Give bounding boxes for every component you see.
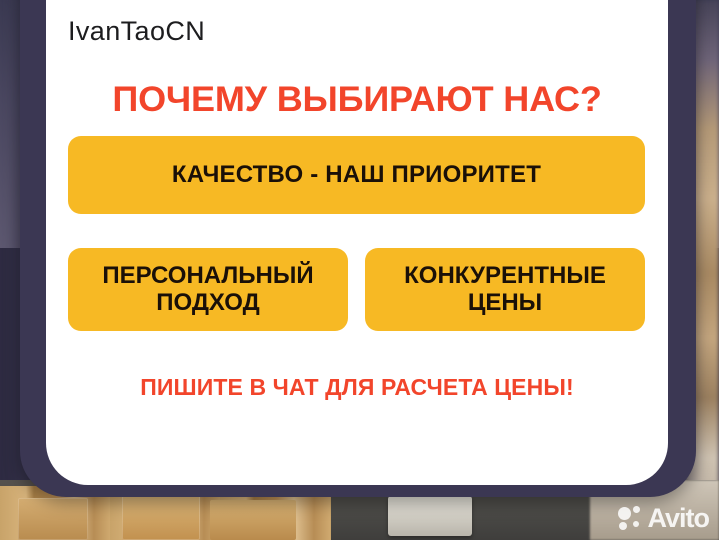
cta-text: ПИШИТЕ В ЧАТ ДЛЯ РАСЧЕТА ЦЕНЫ! [68,374,646,401]
cardboard-box [18,498,88,540]
content-card: IvanTaoCN ПОЧЕМУ ВЫБИРАЮТ НАС? КАЧЕСТВО … [46,0,668,485]
promo-banner: IvanTaoCN ПОЧЕМУ ВЫБИРАЮТ НАС? КАЧЕСТВО … [0,0,719,540]
cardboard-box [122,492,200,540]
hand-cart [388,496,472,536]
benefit-label: КОНКУРЕНТНЫЕ ЦЕНЫ [373,263,637,317]
brand-name: IvanTaoCN [68,16,205,47]
page-title: ПОЧЕМУ ВЫБИРАЮТ НАС? [59,80,654,120]
benefit-label: КАЧЕСТВО - НАШ ПРИОРИТЕТ [172,161,541,189]
benefit-badge-competitive-prices: КОНКУРЕНТНЫЕ ЦЕНЫ [365,248,645,331]
benefit-badge-personal-approach: ПЕРСОНАЛЬНЫЙ ПОДХОД [68,248,348,331]
content-card-inner: IvanTaoCN ПОЧЕМУ ВЫБИРАЮТ НАС? КАЧЕСТВО … [46,0,668,485]
cardboard-box [210,500,296,540]
benefit-label: ПЕРСОНАЛЬНЫЙ ПОДХОД [76,263,340,317]
benefit-badge-quality: КАЧЕСТВО - НАШ ПРИОРИТЕТ [68,136,645,214]
